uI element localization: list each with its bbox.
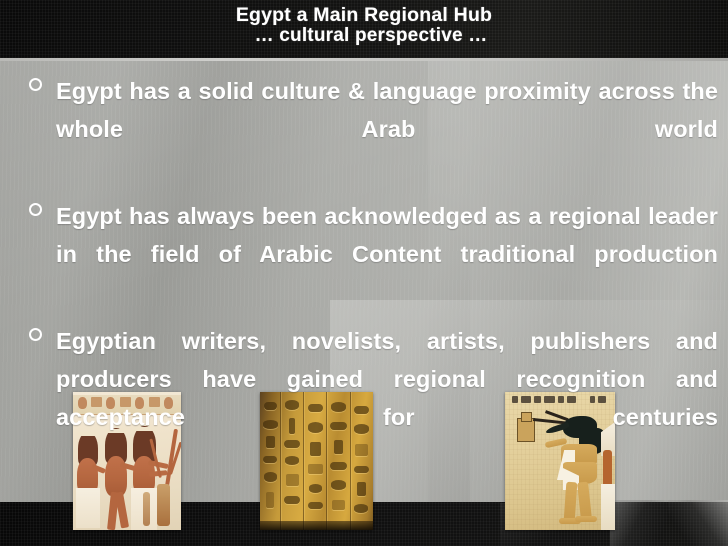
title-line-primary: Egypt a Main Regional Hub xyxy=(0,5,728,26)
bullet-circle-icon xyxy=(29,328,42,341)
list-item-text: Egypt has always been acknowledged as a … xyxy=(56,197,718,311)
bullet-list: Egypt has a solid culture & language pro… xyxy=(0,72,728,485)
list-item: Egypt has always been acknowledged as a … xyxy=(0,197,728,311)
list-item-text: Egyptian writers, novelists, artists, pu… xyxy=(56,322,718,474)
list-item: Egypt has a solid culture & language pro… xyxy=(0,72,728,186)
bullet-circle-icon xyxy=(29,203,42,216)
title-underline xyxy=(0,58,728,61)
slide: Egypt a Main Regional Hub … cultural per… xyxy=(0,0,728,546)
title-line-secondary: … cultural perspective … xyxy=(0,26,728,47)
bullet-circle-icon xyxy=(29,78,42,91)
list-item: Egyptian writers, novelists, artists, pu… xyxy=(0,322,728,474)
page-title: Egypt a Main Regional Hub … cultural per… xyxy=(0,5,728,47)
gold-hieroglyphs-base-shadow xyxy=(260,521,373,530)
list-item-text: Egypt has a solid culture & language pro… xyxy=(56,72,718,186)
footer-accent-shape-b xyxy=(668,500,728,546)
